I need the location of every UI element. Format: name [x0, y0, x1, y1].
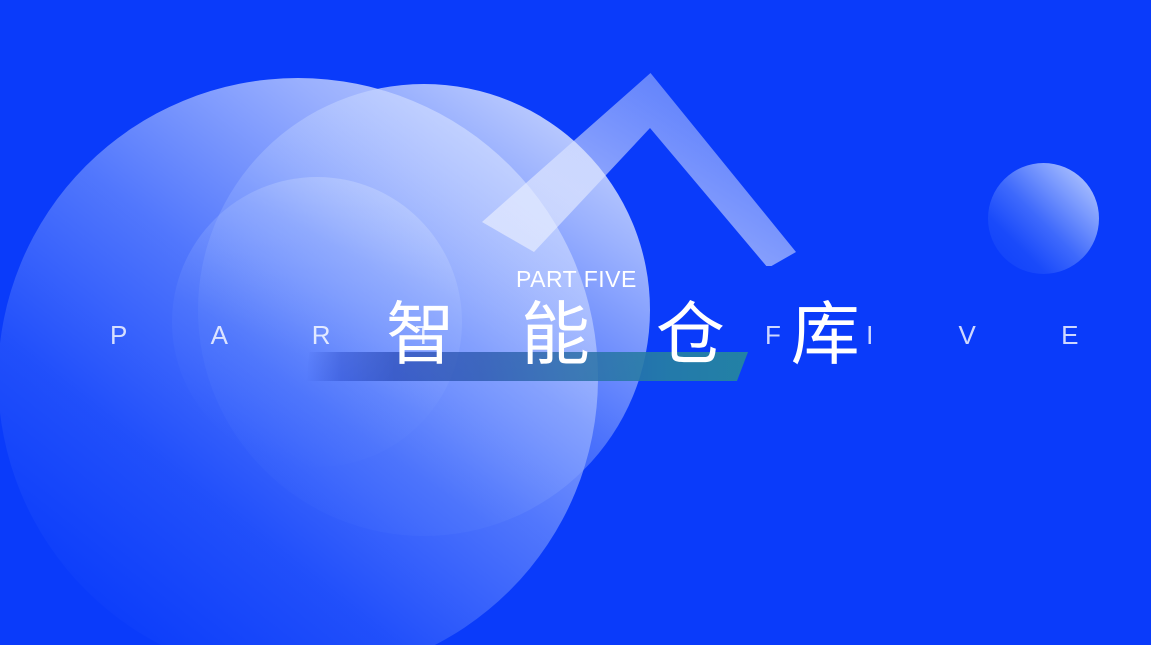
chevron-icon	[466, 56, 816, 266]
section-eyebrow-label: PART FIVE	[516, 266, 637, 293]
sphere-decoration	[988, 163, 1099, 274]
page-title: 智 能 仓 库	[386, 296, 882, 374]
slide-canvas: P A R T F I V E PART FIVE 智 能 仓 库	[0, 0, 1151, 645]
